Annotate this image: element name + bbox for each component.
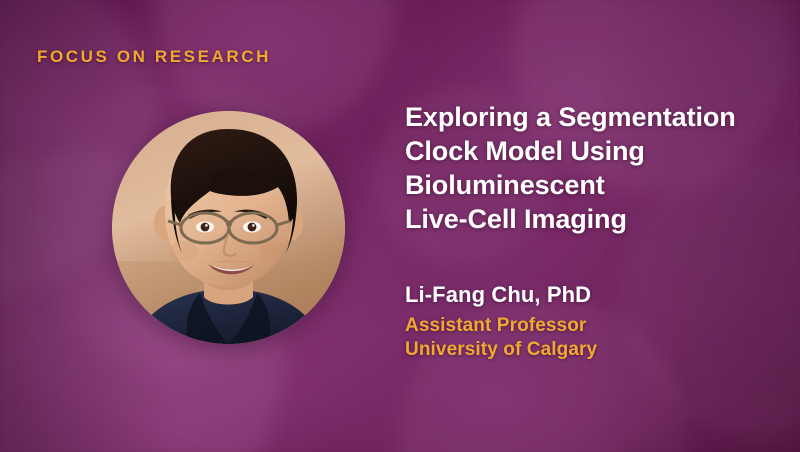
presentation-title: Exploring a Segmentation Clock Model Usi… [405,100,777,236]
title-line: Clock Model Using [405,134,777,168]
speaker-name: Li-Fang Chu, PhD [405,281,597,309]
speaker-role: Assistant Professor [405,314,597,338]
speaker-organization: University of Calgary [405,338,597,362]
focus-on-research-title-card: FOCUS ON RESEARCH [0,0,800,452]
speaker-info: Li-Fang Chu, PhD Assistant Professor Uni… [405,281,597,362]
speaker-portrait [112,111,345,344]
title-line: Live-Cell Imaging [405,202,777,236]
title-line: Bioluminescent [405,168,777,202]
eyebrow-label: FOCUS ON RESEARCH [37,47,271,67]
title-line: Exploring a Segmentation [405,100,777,134]
